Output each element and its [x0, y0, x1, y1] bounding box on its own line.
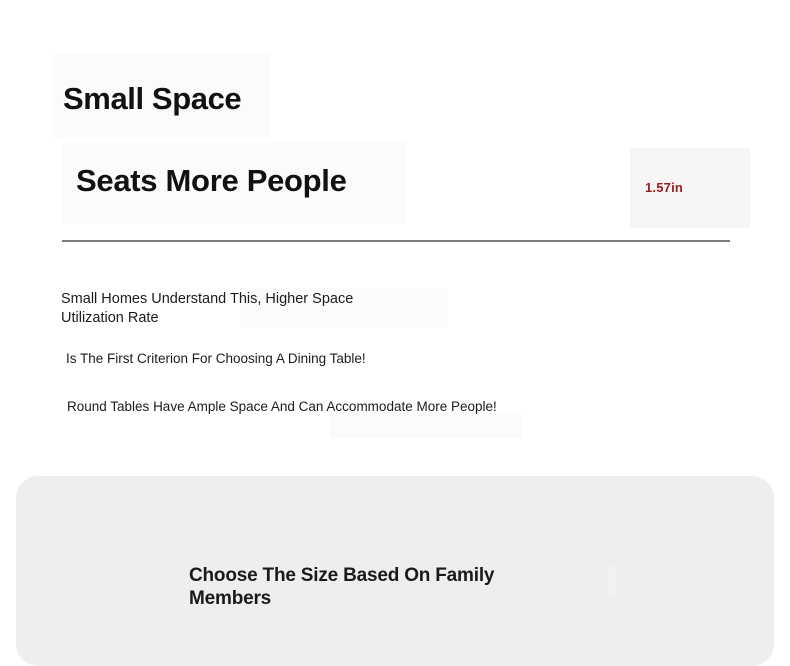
measurement-label: 1.57in — [645, 180, 683, 195]
body-paragraph-one: Small Homes Understand This, Higher Spac… — [61, 290, 401, 327]
page-title: Small Space — [63, 78, 241, 120]
section-divider — [62, 240, 730, 242]
product-infographic-page: Small Space Seats More People 1.57in Sma… — [0, 0, 790, 636]
watermark-mark-card — [608, 566, 616, 596]
page-subtitle: Seats More People — [76, 160, 347, 202]
body-paragraph-three: Round Tables Have Ample Space And Can Ac… — [67, 398, 497, 416]
size-guide-card-heading: Choose The Size Based On Family Members — [189, 564, 539, 610]
body-paragraph-two: Is The First Criterion For Choosing A Di… — [66, 350, 366, 368]
